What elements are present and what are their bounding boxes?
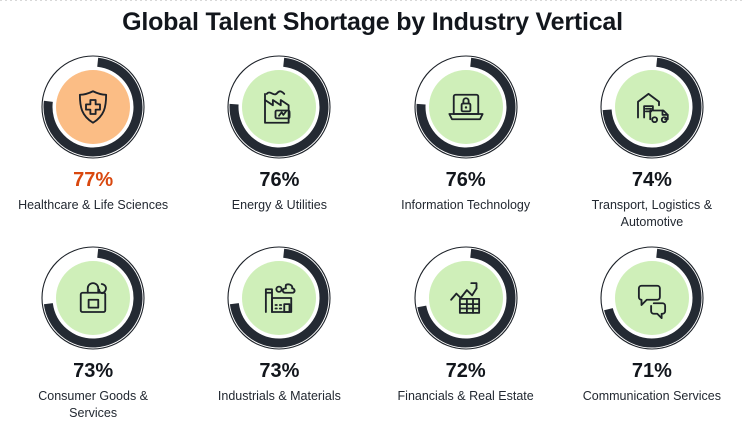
donut-gauge bbox=[39, 244, 147, 352]
donut-gauge bbox=[598, 244, 706, 352]
industry-gauge-cell[interactable]: 71%Communication Services bbox=[559, 244, 745, 421]
gauge-percentage: 76% bbox=[446, 170, 486, 190]
gauge-label: Energy & Utilities bbox=[232, 197, 327, 214]
gauge-percentage: 73% bbox=[73, 361, 113, 381]
gauge-percentage: 73% bbox=[259, 361, 299, 381]
donut-gauge bbox=[225, 244, 333, 352]
gauge-percentage: 77% bbox=[73, 170, 113, 190]
industry-gauge-cell[interactable]: 72%Financials & Real Estate bbox=[373, 244, 559, 421]
industry-gauge-cell[interactable]: 76%Energy & Utilities bbox=[186, 53, 372, 230]
page-title: Global Talent Shortage by Industry Verti… bbox=[0, 0, 745, 37]
gauge-percentage: 71% bbox=[632, 361, 672, 381]
donut-gauge bbox=[412, 53, 520, 161]
top-divider bbox=[0, 0, 745, 1]
industry-gauge-cell[interactable]: 77%Healthcare & Life Sciences bbox=[0, 53, 186, 230]
donut-gauge bbox=[598, 53, 706, 161]
gauge-percentage: 72% bbox=[446, 361, 486, 381]
gauge-label: Communication Services bbox=[583, 388, 721, 405]
industry-gauge-cell[interactable]: 73%Industrials & Materials bbox=[186, 244, 372, 421]
industry-gauge-cell[interactable]: 73%Consumer Goods & Services bbox=[0, 244, 186, 421]
gauge-label: Consumer Goods & Services bbox=[13, 388, 173, 421]
donut-gauge bbox=[412, 244, 520, 352]
gauge-label: Healthcare & Life Sciences bbox=[18, 197, 168, 214]
industry-gauge-grid: 77%Healthcare & Life Sciences76%Energy &… bbox=[0, 53, 745, 422]
industry-gauge-cell[interactable]: 76%Information Technology bbox=[373, 53, 559, 230]
gauge-label: Information Technology bbox=[401, 197, 530, 214]
gauge-percentage: 76% bbox=[259, 170, 299, 190]
gauge-label: Industrials & Materials bbox=[218, 388, 341, 405]
gauge-label: Financials & Real Estate bbox=[398, 388, 534, 405]
gauge-percentage: 74% bbox=[632, 170, 672, 190]
gauge-label: Transport, Logistics & Automotive bbox=[572, 197, 732, 230]
donut-gauge bbox=[39, 53, 147, 161]
donut-gauge bbox=[225, 53, 333, 161]
industry-gauge-cell[interactable]: 74%Transport, Logistics & Automotive bbox=[559, 53, 745, 230]
